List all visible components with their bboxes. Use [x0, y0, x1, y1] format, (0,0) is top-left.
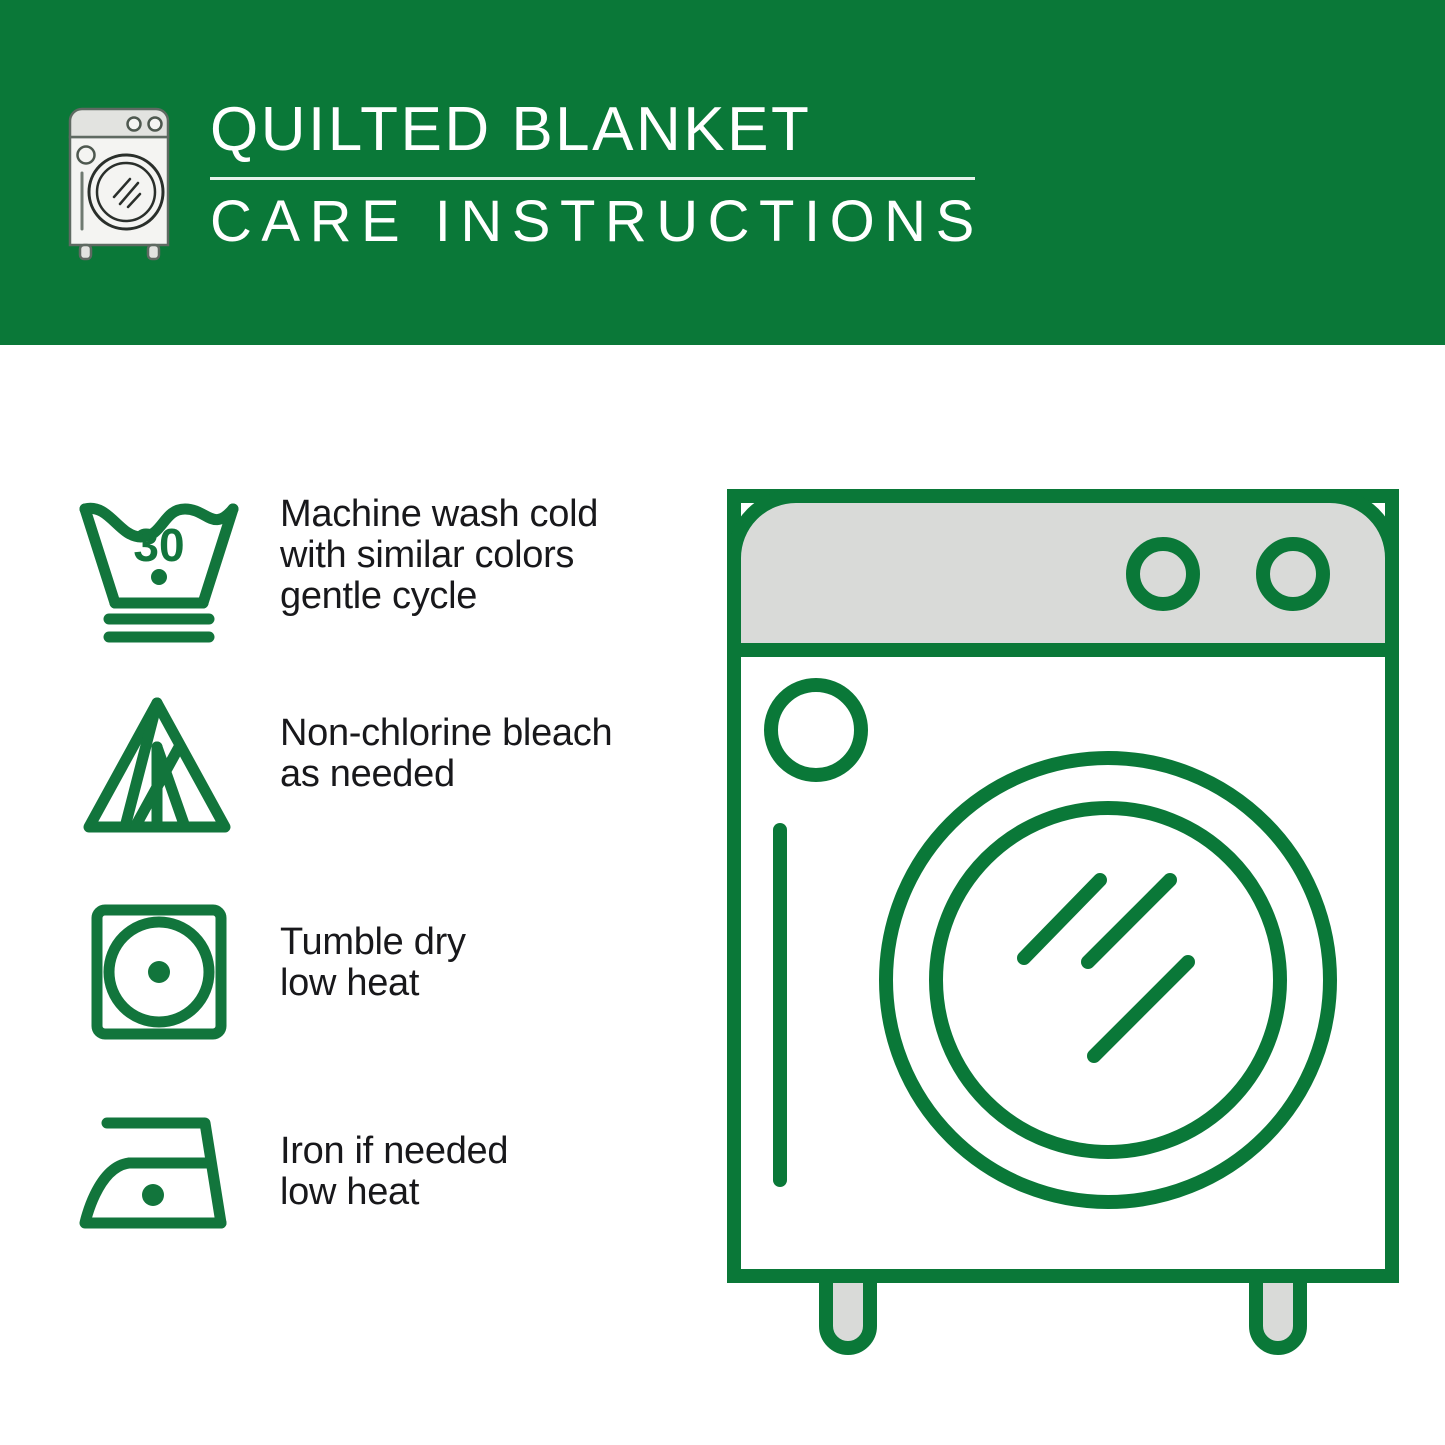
header-band: QUILTED BLANKET CARE INSTRUCTIONS: [0, 0, 1445, 345]
header-title-group: QUILTED BLANKET CARE INSTRUCTIONS: [210, 95, 1002, 254]
machine-control-panel: [734, 496, 1392, 650]
tumble-dry-low-heat-icon: [62, 880, 262, 1060]
instruction-item-iron: Iron if needed low heat: [62, 1085, 702, 1290]
instruction-item-tumble-dry: Tumble dry low heat: [62, 880, 702, 1085]
front-load-washing-machine-illustration: [718, 480, 1408, 1370]
wash-tub-30-gentle-icon: 30: [62, 470, 262, 650]
header-content: QUILTED BLANKET CARE INSTRUCTIONS: [62, 95, 1002, 275]
instruction-text-tumble-dry: Tumble dry low heat: [280, 880, 702, 1004]
instruction-text-bleach: Non-chlorine bleach as needed: [280, 675, 702, 795]
instruction-list: 30 Machine wash cold with similar colors…: [62, 470, 702, 1290]
wash-temperature-value: 30: [133, 519, 184, 571]
instruction-text-machine-wash: Machine wash cold with similar colors ge…: [280, 470, 702, 617]
iron-low-heat-icon: [62, 1085, 262, 1265]
non-chlorine-bleach-triangle-icon: [62, 675, 262, 855]
instruction-item-bleach: Non-chlorine bleach as needed: [62, 675, 702, 880]
page-title: QUILTED BLANKET: [210, 97, 1002, 163]
machine-leg-right: [1256, 1276, 1300, 1348]
care-instructions-page: QUILTED BLANKET CARE INSTRUCTIONS: [0, 0, 1445, 1445]
instruction-text-iron: Iron if needed low heat: [280, 1085, 702, 1213]
title-divider: [210, 177, 975, 180]
machine-leg-left: [826, 1276, 870, 1348]
page-subtitle: CARE INSTRUCTIONS: [210, 190, 1002, 254]
instruction-item-machine-wash: 30 Machine wash cold with similar colors…: [62, 470, 702, 675]
washing-machine-icon: [62, 103, 180, 263]
